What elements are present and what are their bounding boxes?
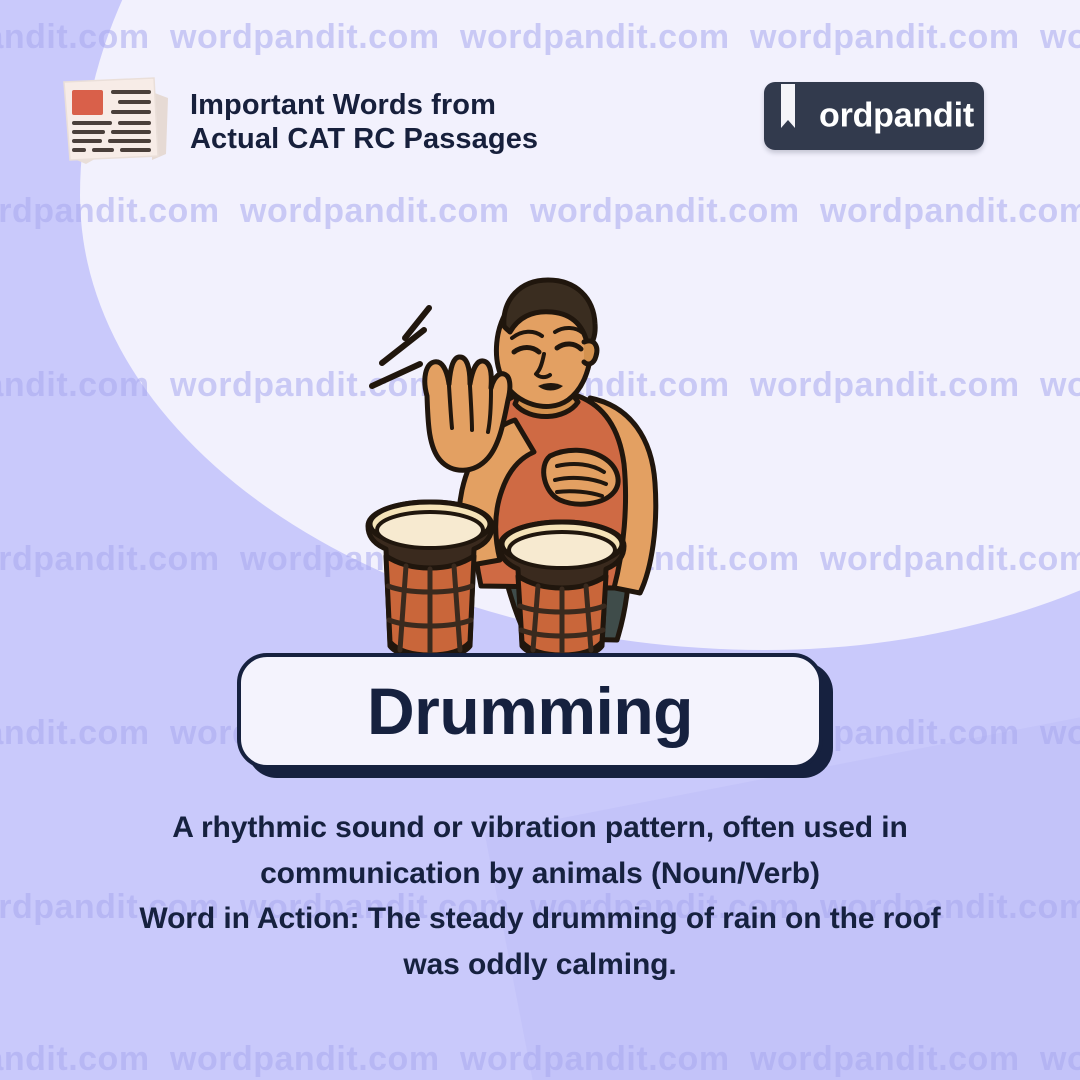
page-title-line1: Important Words from [190,88,538,122]
watermark-text: wordpandit.com [1040,366,1080,405]
watermark-text: wordpandit.com [0,714,150,753]
watermark-text: wordpandit.com [460,1040,730,1079]
word-badge: Drumming [237,653,823,769]
definition-line-1: A rhythmic sound or vibration pattern, o… [50,805,1030,851]
watermark-text: wordpandit.com [530,192,800,231]
word-term: Drumming [367,678,693,744]
watermark-text: wordpandit.com [0,540,220,579]
watermark-text: wordpandit.com [0,192,220,231]
bookmark-w-icon [778,84,820,146]
watermark-text: wordpandit.com [240,192,510,231]
page-title: Important Words from Actual CAT RC Passa… [190,88,538,156]
brand-name: ordpandit [819,97,974,136]
watermark-text: wordpandit.com [1040,714,1080,753]
definition-line-2: communication by animals (Noun/Verb) [50,851,1030,897]
watermark-text: wordpandit.com [170,1040,440,1079]
watermark-text: wordpandit.com [0,1040,150,1079]
definition-line-4: was oddly calming. [50,942,1030,988]
watermark-text: wordpandit.com [820,192,1080,231]
newspaper-icon [56,72,178,168]
page-title-line2: Actual CAT RC Passages [190,122,538,156]
watermark-text: wordpandit.com [750,1040,1020,1079]
header: Important Words from Actual CAT RC Passa… [0,0,1080,180]
poster-canvas: wordpandit.comwordpandit.comwordpandit.c… [0,0,1080,1080]
definition-block: A rhythmic sound or vibration pattern, o… [50,805,1030,987]
watermark-text: wordpandit.com [820,540,1080,579]
watermark-text: wordpandit.com [1040,1040,1080,1079]
bongo-drummer-illustration [352,268,712,658]
watermark-text: wordpandit.com [750,366,1020,405]
watermark-text: wordpandit.com [0,366,150,405]
wordpandit-logo[interactable]: ordpandit [764,82,984,150]
definition-line-3: Word in Action: The steady drumming of r… [50,896,1030,942]
